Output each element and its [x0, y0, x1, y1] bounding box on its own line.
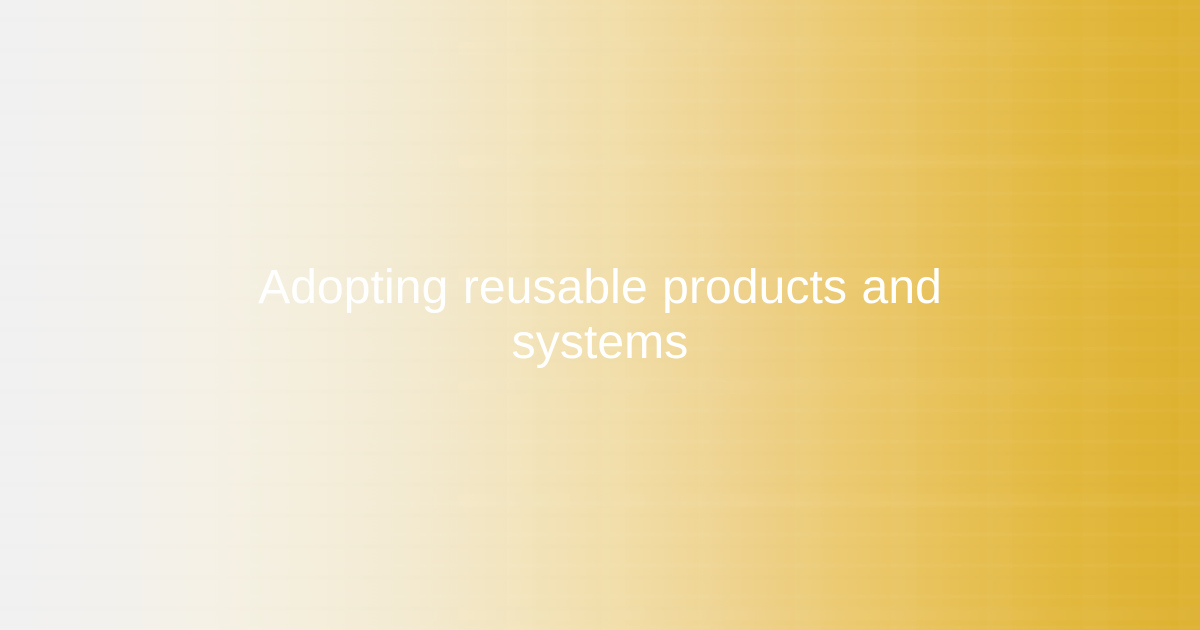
- hero-banner: Adopting reusable products and systems: [0, 0, 1200, 630]
- banner-headline: Adopting reusable products and systems: [250, 260, 950, 370]
- banner-content: Adopting reusable products and systems: [0, 0, 1200, 630]
